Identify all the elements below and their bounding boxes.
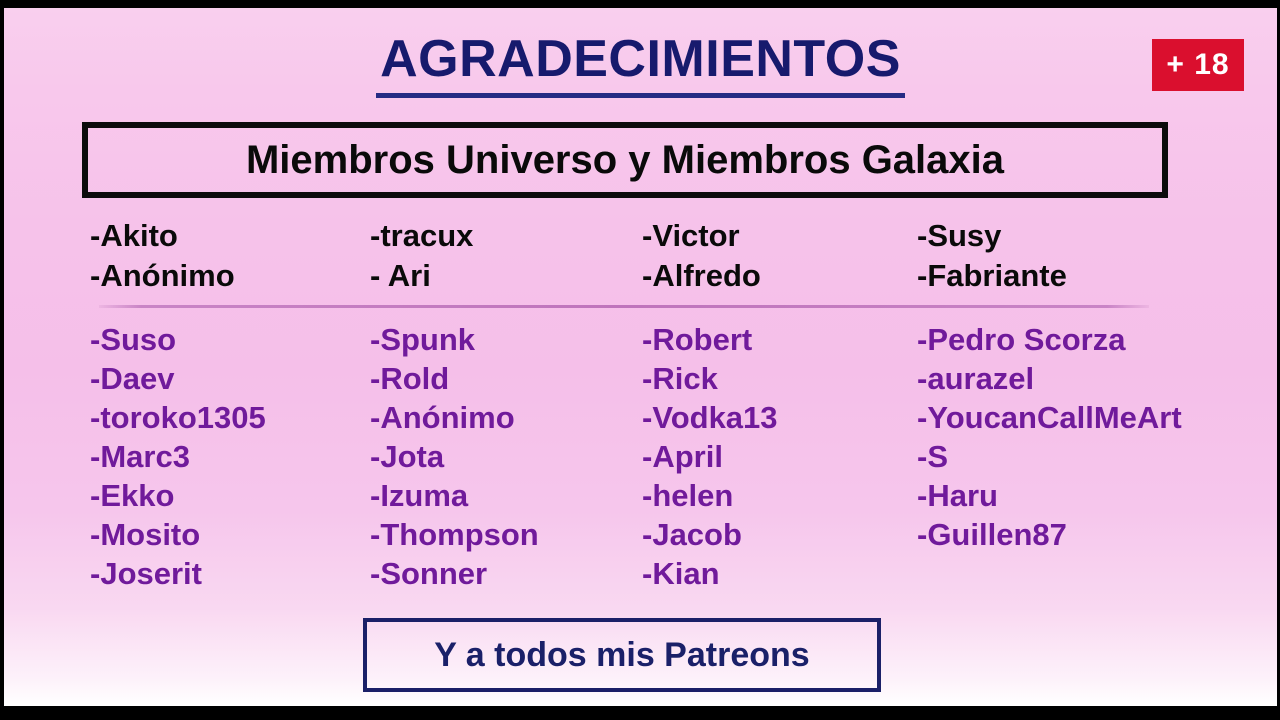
credit-name: -Akito bbox=[90, 216, 235, 256]
letterbox-bottom bbox=[0, 706, 1280, 720]
credit-name: -toroko1305 bbox=[90, 398, 266, 437]
footer-text: Y a todos mis Patreons bbox=[434, 636, 809, 675]
top-credits-column-3: -Victor -Alfredo bbox=[642, 216, 761, 296]
credit-name: -Spunk bbox=[370, 320, 539, 359]
credit-name: -Vodka13 bbox=[642, 398, 778, 437]
credit-name: -Ekko bbox=[90, 476, 266, 515]
credit-name: -Marc3 bbox=[90, 437, 266, 476]
age-rating-badge: + 18 bbox=[1152, 39, 1244, 91]
credit-name: -Victor bbox=[642, 216, 761, 256]
top-credits-column-2: -tracux - Ari bbox=[370, 216, 473, 296]
credit-name: -April bbox=[642, 437, 778, 476]
credit-name: -Suso bbox=[90, 320, 266, 359]
credit-name: -Anónimo bbox=[370, 398, 539, 437]
letterbox-top bbox=[0, 0, 1280, 8]
credit-name: -Guillen87 bbox=[917, 515, 1182, 554]
section-title: Miembros Universo y Miembros Galaxia bbox=[246, 138, 1004, 183]
bottom-credits-column-2: -Spunk -Rold -Anónimo -Jota -Izuma -Thom… bbox=[370, 320, 539, 593]
credit-name: -Izuma bbox=[370, 476, 539, 515]
top-credits-column-4: -Susy -Fabriante bbox=[917, 216, 1067, 296]
credit-name: -Susy bbox=[917, 216, 1067, 256]
credit-name: -aurazel bbox=[917, 359, 1182, 398]
page-title: AGRADECIMIENTOS bbox=[376, 32, 905, 98]
letterbox-left bbox=[0, 0, 4, 720]
footer-box: Y a todos mis Patreons bbox=[363, 618, 881, 692]
section-header-box: Miembros Universo y Miembros Galaxia bbox=[82, 122, 1168, 198]
credit-name: -Daev bbox=[90, 359, 266, 398]
credit-name: -Fabriante bbox=[917, 256, 1067, 296]
credit-name: -helen bbox=[642, 476, 778, 515]
video-frame: AGRADECIMIENTOS + 18 Miembros Universo y… bbox=[0, 0, 1280, 720]
credit-name: - Ari bbox=[370, 256, 473, 296]
credit-name: -Anónimo bbox=[90, 256, 235, 296]
bottom-credits-column-4: -Pedro Scorza -aurazel -YoucanCallMeArt … bbox=[917, 320, 1182, 554]
credit-name: -Robert bbox=[642, 320, 778, 359]
top-credits-column-1: -Akito -Anónimo bbox=[90, 216, 235, 296]
credit-name: -Rold bbox=[370, 359, 539, 398]
credit-name: -Rick bbox=[642, 359, 778, 398]
credit-name: -Haru bbox=[917, 476, 1182, 515]
credit-name: -Mosito bbox=[90, 515, 266, 554]
credit-name: -Pedro Scorza bbox=[917, 320, 1182, 359]
credit-name: -tracux bbox=[370, 216, 473, 256]
bottom-credits-column-3: -Robert -Rick -Vodka13 -April -helen -Ja… bbox=[642, 320, 778, 593]
credit-name: -YoucanCallMeArt bbox=[917, 398, 1182, 437]
title-container: AGRADECIMIENTOS bbox=[4, 32, 1277, 98]
credit-name: -Joserit bbox=[90, 554, 266, 593]
credits-slide: AGRADECIMIENTOS + 18 Miembros Universo y… bbox=[4, 8, 1277, 706]
credit-name: -Thompson bbox=[370, 515, 539, 554]
horizontal-divider bbox=[99, 305, 1149, 308]
credit-name: -Jota bbox=[370, 437, 539, 476]
credit-name: -Kian bbox=[642, 554, 778, 593]
credit-name: -S bbox=[917, 437, 1182, 476]
bottom-credits-column-1: -Suso -Daev -toroko1305 -Marc3 -Ekko -Mo… bbox=[90, 320, 266, 593]
credit-name: -Alfredo bbox=[642, 256, 761, 296]
credit-name: -Sonner bbox=[370, 554, 539, 593]
credit-name: -Jacob bbox=[642, 515, 778, 554]
